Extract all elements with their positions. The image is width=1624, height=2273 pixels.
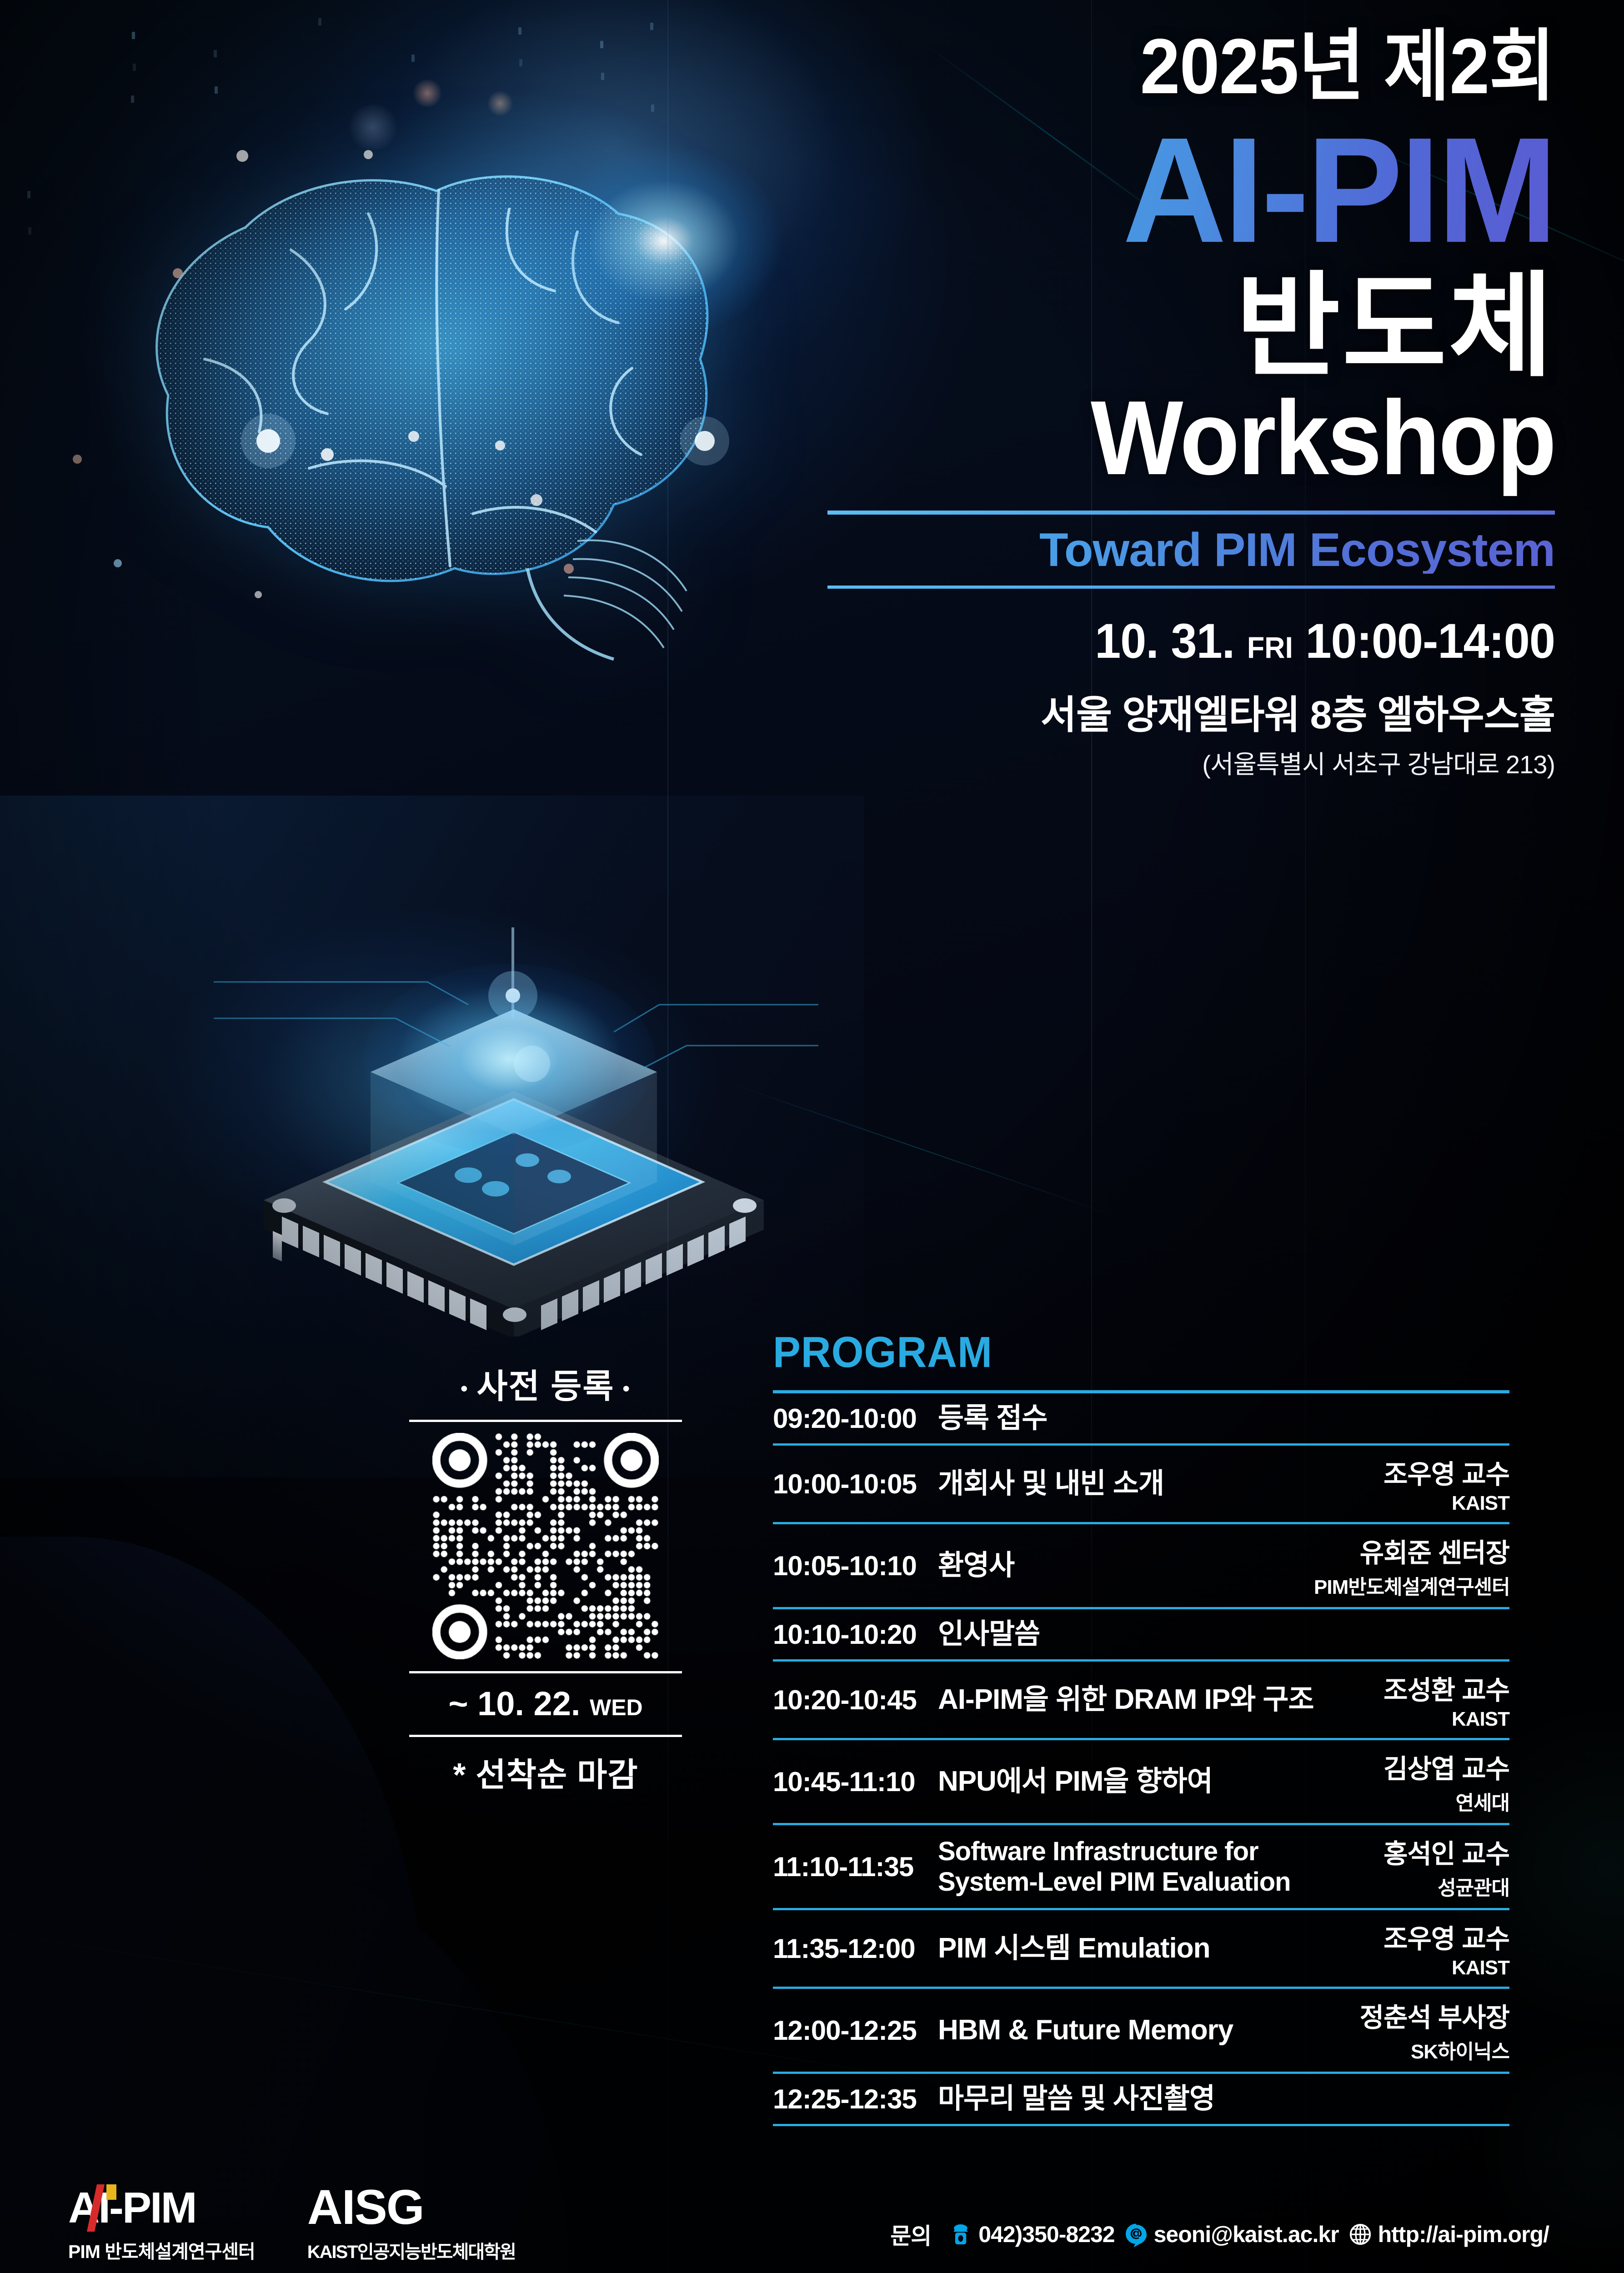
speaker-name: 조우영 교수 <box>1314 1918 1509 1956</box>
row-speaker: 정춘석 부사장SK하이닉스 <box>1314 1996 1509 2064</box>
row-speaker: 조우영 교수KAIST <box>1314 1918 1509 1979</box>
contact-phone[interactable]: 042)350-8232 <box>978 2221 1114 2248</box>
row-title: 마무리 말씀 및 사진촬영 <box>930 2083 1314 2115</box>
registration-rule-mid <box>409 1671 682 1673</box>
speaker-affiliation: KAIST <box>1314 1708 1509 1731</box>
table-row: 10:45-11:10NPU에서 PIM을 향하여김상엽 교수연세대 <box>773 1740 1509 1823</box>
row-time: 12:00-12:25 <box>773 2015 930 2046</box>
email-icon <box>1124 2222 1148 2247</box>
logo-aisg: AISG KAIST인공지능반도체대학원 <box>307 2183 516 2263</box>
row-title: AI-PIM을 위한 DRAM IP와 구조 <box>930 1683 1314 1716</box>
row-time: 09:20-10:00 <box>773 1403 930 1434</box>
row-time: 10:10-10:20 <box>773 1619 930 1650</box>
row-time: 12:25-12:35 <box>773 2083 930 2115</box>
bullet-left: • <box>452 1377 476 1400</box>
table-row: 09:20-10:00등록 접수 <box>773 1393 1509 1443</box>
row-title: Software Infrastructure forSystem-Level … <box>930 1836 1314 1898</box>
table-row: 10:20-10:45AI-PIM을 위한 DRAM IP와 구조조성환 교수K… <box>773 1662 1509 1738</box>
row-speaker: 김상엽 교수연세대 <box>1314 1747 1509 1816</box>
row-speaker: 홍석인 교수성균관대 <box>1314 1832 1509 1901</box>
event-venue: 서울 양재엘타워 8층 엘하우스홀 <box>773 683 1555 740</box>
bullet-right: • <box>614 1377 638 1400</box>
title-rule-bottom <box>827 586 1555 589</box>
speaker-name: 홍석인 교수 <box>1314 1832 1509 1871</box>
row-title: 인사말씀 <box>930 1618 1314 1651</box>
globe-icon <box>1348 2222 1373 2247</box>
speaker-affiliation: KAIST <box>1314 1957 1509 1979</box>
row-title: 환영사 <box>930 1549 1314 1582</box>
row-time: 10:20-10:45 <box>773 1684 930 1716</box>
speaker-name: 조성환 교수 <box>1314 1669 1509 1707</box>
row-time: 11:10-11:35 <box>773 1851 930 1882</box>
registration-block: •사전 등록• ~ 10. 22. WED * 선착순 마감 <box>409 1359 682 1796</box>
page-title-workshop: Workshop <box>827 385 1555 492</box>
speaker-name: 김상엽 교수 <box>1314 1747 1509 1786</box>
logo-aipim-dot-icon <box>106 2184 116 2200</box>
speaker-affiliation: 연세대 <box>1314 1787 1509 1816</box>
deadline-prefix: ~ <box>448 1685 468 1722</box>
contact-label: 문의 <box>890 2218 931 2251</box>
row-time: 11:35-12:00 <box>773 1933 930 1964</box>
table-row: 12:25-12:35마무리 말씀 및 사진촬영 <box>773 2074 1509 2124</box>
program-schedule-table: 09:20-10:00등록 접수10:00-10:05개회사 및 내빈 소개조우… <box>773 1393 1509 2126</box>
speaker-affiliation: KAIST <box>1314 1492 1509 1515</box>
phone-icon <box>948 2222 973 2247</box>
speaker-name: 조우영 교수 <box>1314 1453 1509 1491</box>
qr-canvas[interactable] <box>432 1433 659 1659</box>
speaker-affiliation: SK하이닉스 <box>1314 2035 1509 2064</box>
registration-title-label: 사전 등록 <box>477 1367 615 1405</box>
registration-title: •사전 등록• <box>409 1359 682 1408</box>
table-row: 12:00-12:25HBM & Future Memory정춘석 부사장SK하… <box>773 1989 1509 2072</box>
row-title: 등록 접수 <box>930 1402 1314 1435</box>
table-row: 10:10-10:20인사말씀 <box>773 1609 1509 1659</box>
logo-aipim: AI-PIM PIM 반도체설계연구센터 <box>68 2186 255 2263</box>
speaker-affiliation: PIM반도체설계연구센터 <box>1314 1571 1509 1600</box>
registration-deadline: ~ 10. 22. WED <box>409 1684 682 1723</box>
row-separator <box>773 2124 1509 2126</box>
row-time: 10:05-10:10 <box>773 1550 930 1582</box>
row-speaker: 유회준 센터장PIM반도체설계연구센터 <box>1314 1532 1509 1600</box>
page-title-korean: 반도체 <box>773 266 1555 386</box>
logo-aisg-subtitle: KAIST인공지능반도체대학원 <box>307 2237 516 2263</box>
speaker-name: 유회준 센터장 <box>1314 1532 1509 1570</box>
row-title: NPU에서 PIM을 향하여 <box>930 1765 1314 1798</box>
event-date: 10. 31. <box>1095 613 1234 668</box>
registration-note: * 선착순 마감 <box>409 1748 682 1796</box>
row-title: PIM 시스템 Emulation <box>930 1932 1314 1965</box>
contact-website[interactable]: http://ai-pim.org/ <box>1378 2221 1549 2248</box>
row-time: 10:00-10:05 <box>773 1468 930 1500</box>
event-address: (서울특별시 서초구 강남대로 213) <box>773 744 1555 781</box>
page-subtitle: Toward PIM Ecosystem <box>773 526 1555 574</box>
contact-email[interactable]: seoni@kaist.ac.kr <box>1154 2221 1339 2248</box>
event-datetime: 10. 31. FRI 10:00-14:00 <box>812 612 1555 669</box>
row-speaker: 조성환 교수KAIST <box>1314 1669 1509 1731</box>
registration-rule-top <box>409 1420 682 1422</box>
footer: AI-PIM PIM 반도체설계연구센터 AISG KAIST인공지능반도체대학… <box>0 2146 1624 2273</box>
row-title: HBM & Future Memory <box>930 2014 1314 2047</box>
footer-logos: AI-PIM PIM 반도체설계연구센터 AISG KAIST인공지능반도체대학… <box>68 2183 516 2263</box>
footer-contact: 문의 042)350-8232 seoni@kaist.ac.kr <box>890 2218 1549 2251</box>
row-title: 개회사 및 내빈 소개 <box>930 1467 1314 1500</box>
program-block: PROGRAM 09:20-10:00등록 접수10:00-10:05개회사 및… <box>773 1327 1509 2126</box>
table-row: 10:05-10:10환영사유회준 센터장PIM반도체설계연구센터 <box>773 1524 1509 1607</box>
deadline-weekday: WED <box>590 1695 643 1720</box>
registration-rule-bottom <box>409 1735 682 1737</box>
page-title-year: 2025년 제2회 <box>836 27 1555 105</box>
table-row: 11:35-12:00PIM 시스템 Emulation조우영 교수KAIST <box>773 1910 1509 1987</box>
row-speaker: 조우영 교수KAIST <box>1314 1453 1509 1515</box>
program-heading: PROGRAM <box>773 1327 1473 1377</box>
page-title-brand: AI-PIM <box>804 116 1555 263</box>
event-time: 10:00-14:00 <box>1305 613 1555 668</box>
logo-aipim-wordmark: AI-PIM <box>68 2186 196 2230</box>
deadline-date: 10. 22. <box>477 1685 580 1722</box>
row-time: 10:45-11:10 <box>773 1766 930 1797</box>
program-rule-top <box>773 1390 1509 1393</box>
speaker-affiliation: 성균관대 <box>1314 1872 1509 1901</box>
table-row: 10:00-10:05개회사 및 내빈 소개조우영 교수KAIST <box>773 1446 1509 1522</box>
event-weekday: FRI <box>1247 631 1293 664</box>
logo-aipim-subtitle: PIM 반도체설계연구센터 <box>68 2236 255 2263</box>
title-block: 2025년 제2회 AI-PIM 반도체 Workshop Toward PIM… <box>773 27 1555 781</box>
speaker-name: 정춘석 부사장 <box>1314 1996 1509 2034</box>
registration-qr-code[interactable] <box>432 1433 659 1659</box>
table-row: 11:10-11:35Software Infrastructure forSy… <box>773 1825 1509 1908</box>
title-rule-top <box>827 511 1555 515</box>
logo-aisg-wordmark: AISG <box>307 2183 516 2232</box>
